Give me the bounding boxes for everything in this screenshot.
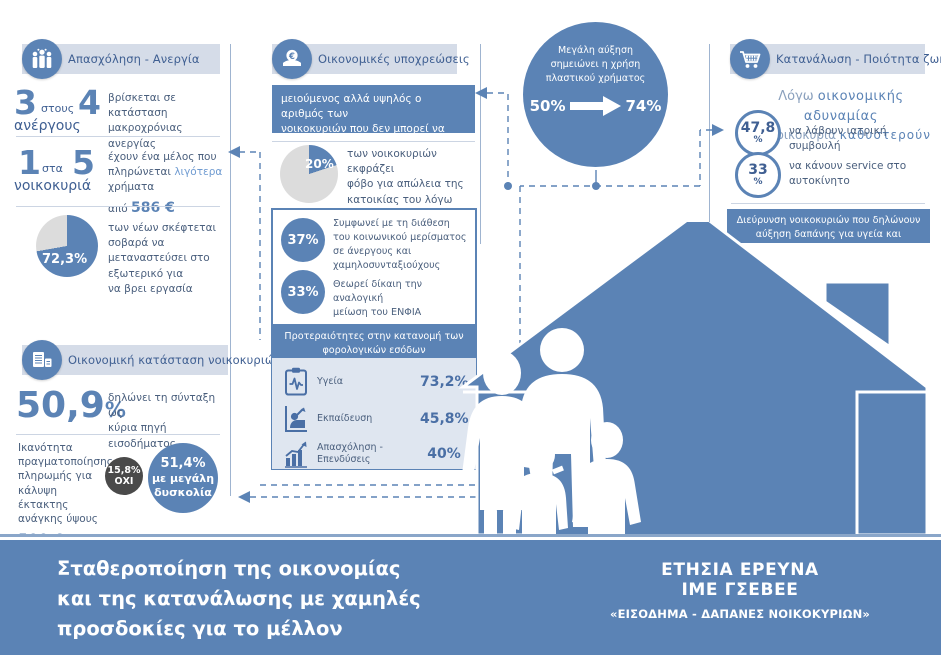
stat-3-mid: στους xyxy=(41,102,74,115)
priority-employment-label: Απασχόληση - Επενδύσεις xyxy=(317,442,420,466)
header-obligations-label: Οικονομικές υποχρεώσεις xyxy=(318,52,470,66)
housing-fear-l1: των νοικοκυριών εκφράζει xyxy=(347,147,475,177)
stat-1-sub: νοικοκυριά xyxy=(14,178,91,194)
separator-emp-1 xyxy=(16,136,220,137)
priorities-title-l1: Προτεραιότητες στην κατανομή των xyxy=(277,330,471,344)
emergency-l1: Ικανότητα xyxy=(18,441,104,455)
circle-agree-37: 37% xyxy=(281,218,325,262)
circle-agree-37-value: 37% xyxy=(287,233,318,248)
credit-l1: ΕΤΗΣΙΑ ΕΡΕΥΝΑ xyxy=(560,560,920,580)
consumption-lead-l1b: οικονομικής αδυναμίας xyxy=(804,89,904,124)
circle-great-difficulty: 51,4% με μεγάλη δυσκολία xyxy=(148,443,218,513)
circle-agree-33-value: 33% xyxy=(287,285,318,300)
plastic-l2: σημειώνει η χρήση xyxy=(546,58,645,72)
divider-col2 xyxy=(480,44,481,244)
header-obligations: € Οικονομικές υποχρεώσεις xyxy=(272,44,457,74)
car-service-unit: % xyxy=(753,178,762,187)
car-service-l1: να κάνουν service στο xyxy=(789,159,939,174)
svg-text:€: € xyxy=(288,52,295,62)
divider-col1 xyxy=(230,44,231,496)
euro-hand-icon: € xyxy=(272,39,312,79)
header-household: Οικονομική κατάσταση νοικοκυριών xyxy=(22,345,228,375)
banner-tax-obligations: μειούμενος αλλά υψηλός ο αριθμός των νοι… xyxy=(272,85,475,133)
emergency-l5: ανάγκης ύψους xyxy=(18,512,104,526)
clipboard-health-icon xyxy=(283,367,309,397)
plastic-l3: πλαστικού χρήματος xyxy=(546,72,645,86)
consumption-lead-l1a: Λόγω xyxy=(778,89,818,104)
priorities-title-l2: φορολογικών εσόδων xyxy=(277,344,471,358)
pie-youth-emigration xyxy=(36,215,98,277)
priorities-title: Προτεραιότητες στην κατανομή των φορολογ… xyxy=(271,326,477,357)
infographic-root: Απασχόληση - Ανεργία 3 στους 4 ανέργους … xyxy=(0,0,941,655)
pie-housing-loss-fear xyxy=(280,145,338,203)
header-consumption-label: Κατανάλωση - Ποιότητα ζωής xyxy=(776,52,941,66)
medical-delay-text: να λάβουν ιατρική συμβουλή xyxy=(789,124,939,154)
stat-1-text-highlight: λιγότερα xyxy=(174,166,222,178)
priority-employment-l2: Επενδύσεις xyxy=(317,454,370,465)
stat-3-num1: 3 xyxy=(14,86,37,119)
stat-1-in-5-text: έχουν ένα μέλος που πληρώνεται λιγότερα … xyxy=(108,150,226,218)
emigration-text-l3: να βρει εργασία xyxy=(108,282,228,297)
circle-medical-delay: 47,8 % xyxy=(735,110,781,156)
footer-slogan: Σταθεροποίηση της οικονομίας και της κατ… xyxy=(57,554,477,645)
stat-1-num1: 1 xyxy=(18,146,41,179)
stat-3-sub: ανέργους xyxy=(14,118,81,134)
stat-3-num2: 4 xyxy=(78,86,101,119)
stat-emigration-text: των νέων σκέφτεται σοβαρά να μεταναστεύσ… xyxy=(108,221,228,297)
circle-difficulty-l2: δυσκολία xyxy=(154,486,212,500)
stat-3-in-4-text: βρίσκεται σε κατάσταση μακροχρόνιας ανερ… xyxy=(108,91,220,152)
priority-employment-l1: Απασχόληση - xyxy=(317,442,383,453)
circle-plastic-money: Μεγάλη αύξηση σημειώνει η χρήση πλαστικο… xyxy=(523,22,668,167)
priority-row-health: Υγεία 73,2% xyxy=(283,365,468,399)
car-service-value: 33 xyxy=(748,163,767,177)
car-service-l2: αυτοκίνητο xyxy=(789,174,939,189)
bank-books-icon xyxy=(22,340,62,380)
agree-37-l4: χαμηλοσυνταξιούχους xyxy=(333,259,471,273)
house-with-family-icon xyxy=(455,222,941,538)
separator-house-1 xyxy=(16,434,220,435)
priority-health-label: Υγεία xyxy=(317,376,420,388)
plastic-to: 74% xyxy=(626,97,662,115)
priority-row-employment: Απασχόληση - Επενδύσεις 40% xyxy=(283,438,468,470)
right-arrow-icon xyxy=(570,95,622,117)
divider-col3 xyxy=(709,44,710,244)
emergency-l3: πληρωμής για xyxy=(18,469,104,483)
plastic-money-change: 50% 74% xyxy=(530,95,662,117)
circle-car-service-delay: 33 % xyxy=(735,152,781,198)
separator-consumption xyxy=(731,203,925,204)
priority-row-education: Εκπαίδευση 45,8% xyxy=(283,402,468,436)
agree-33-text: Θεωρεί δίκαιη την αναλογική μείωση του Ε… xyxy=(333,278,475,320)
circle-difficulty-value: 51,4% xyxy=(160,456,205,472)
stat-1-num2: 5 xyxy=(72,146,95,179)
emergency-l4: κάλυψη έκτακτης xyxy=(18,484,104,512)
stat-1-text-l1: έχουν ένα μέλος που xyxy=(108,150,226,165)
pension-text-l1: δηλώνει τη σύνταξη ως xyxy=(108,391,228,421)
agree-33-l2: μείωση του ΕΝΦΙΑ xyxy=(333,306,475,320)
slogan-l3: προσδοκίες για το μέλλον xyxy=(57,614,477,644)
footer-credit: ΕΤΗΣΙΑ ΕΡΕΥΝΑ ΙΜΕ ΓΣΕΒΕΕ «ΕΙΣΟΔΗΜΑ - ΔΑΠ… xyxy=(560,560,920,621)
pie-housing-loss-value: 20% xyxy=(305,157,334,171)
priority-education-label: Εκπαίδευση xyxy=(317,413,420,425)
stat-1-text-l3a: από xyxy=(108,203,131,215)
medical-delay-unit: % xyxy=(753,136,762,145)
circle-no-capability: 15,8% ΟΧΙ xyxy=(105,457,143,495)
arrow-head-left-2 xyxy=(475,87,487,99)
header-employment: Απασχόληση - Ανεργία xyxy=(22,44,220,74)
agree-33-l1: Θεωρεί δίκαιη την αναλογική xyxy=(333,278,475,306)
arrow-head-right-1 xyxy=(712,124,724,136)
people-group-icon xyxy=(22,39,62,79)
stat-1-amount: 586 € xyxy=(131,200,175,216)
car-service-text: να κάνουν service στο αυτοκίνητο xyxy=(789,159,939,189)
emigration-text-l2: μεταναστεύσει στο εξωτερικό για xyxy=(108,251,228,281)
circle-no-value: 15,8% xyxy=(108,465,141,476)
shopping-cart-icon xyxy=(730,39,770,79)
stat-3-text-l1: βρίσκεται σε κατάσταση xyxy=(108,91,220,121)
stat-pension-text: δηλώνει τη σύνταξη ως κύρια πηγή εισοδήμ… xyxy=(108,391,228,452)
circle-difficulty-l1: με μεγάλη xyxy=(152,472,214,486)
separator-emp-2 xyxy=(16,206,220,207)
circle-agree-33: 33% xyxy=(281,270,325,314)
agree-37-text: Συμφωνεί με τη διάθεση του κοινωνικού με… xyxy=(333,217,471,273)
circle-no-label: ΟΧΙ xyxy=(115,476,134,487)
stat-1-text-l2c: χρήματα xyxy=(108,181,154,193)
plastic-from: 50% xyxy=(530,97,566,115)
pie-youth-emigration-value: 72,3% xyxy=(42,252,87,267)
slogan-l1: Σταθεροποίηση της οικονομίας xyxy=(57,554,477,584)
credit-l3: «ΕΙΣΟΔΗΜΑ - ΔΑΠΑΝΕΣ ΝΟΙΚΟΚΥΡΙΩΝ» xyxy=(560,607,920,621)
stat-pension-value: 50,9 xyxy=(16,385,105,426)
credit-l2: ΙΜΕ ΓΣΕΒΕΕ xyxy=(560,580,920,600)
separator-oblig-1 xyxy=(272,141,475,142)
stat-1-mid: στα xyxy=(42,162,63,175)
housing-fear-l3: κατοικίας του λόγω xyxy=(347,193,475,208)
plastic-l1: Μεγάλη αύξηση xyxy=(546,44,645,58)
slogan-l2: και της κατανάλωσης με χαμηλές xyxy=(57,584,477,614)
plastic-money-caption: Μεγάλη αύξηση σημειώνει η χρήση πλαστικο… xyxy=(546,44,645,85)
header-consumption: Κατανάλωση - Ποιότητα ζωής xyxy=(730,44,925,74)
medical-delay-value: 47,8 xyxy=(741,121,776,135)
banner-tax-l1: μειούμενος αλλά υψηλός ο αριθμός των xyxy=(281,92,466,122)
growth-chart-icon xyxy=(283,439,309,469)
emigration-text-l1: των νέων σκέφτεται σοβαρά να xyxy=(108,221,228,251)
header-household-label: Οικονομική κατάσταση νοικοκυριών xyxy=(68,353,281,367)
emergency-l2: πραγματοποίησης xyxy=(18,455,104,469)
stat-1-text-l2a: πληρώνεται xyxy=(108,166,174,178)
agree-37-l2: του κοινωνικού μερίσματος xyxy=(333,231,471,245)
arrow-head-left-3 xyxy=(238,491,250,503)
housing-fear-l2: φόβο για απώλεια της xyxy=(347,177,475,192)
header-employment-label: Απασχόληση - Ανεργία xyxy=(68,52,200,66)
agree-37-l3: σε άνεργους και xyxy=(333,245,471,259)
education-chart-icon xyxy=(283,404,309,434)
agree-37-l1: Συμφωνεί με τη διάθεση xyxy=(333,217,471,231)
